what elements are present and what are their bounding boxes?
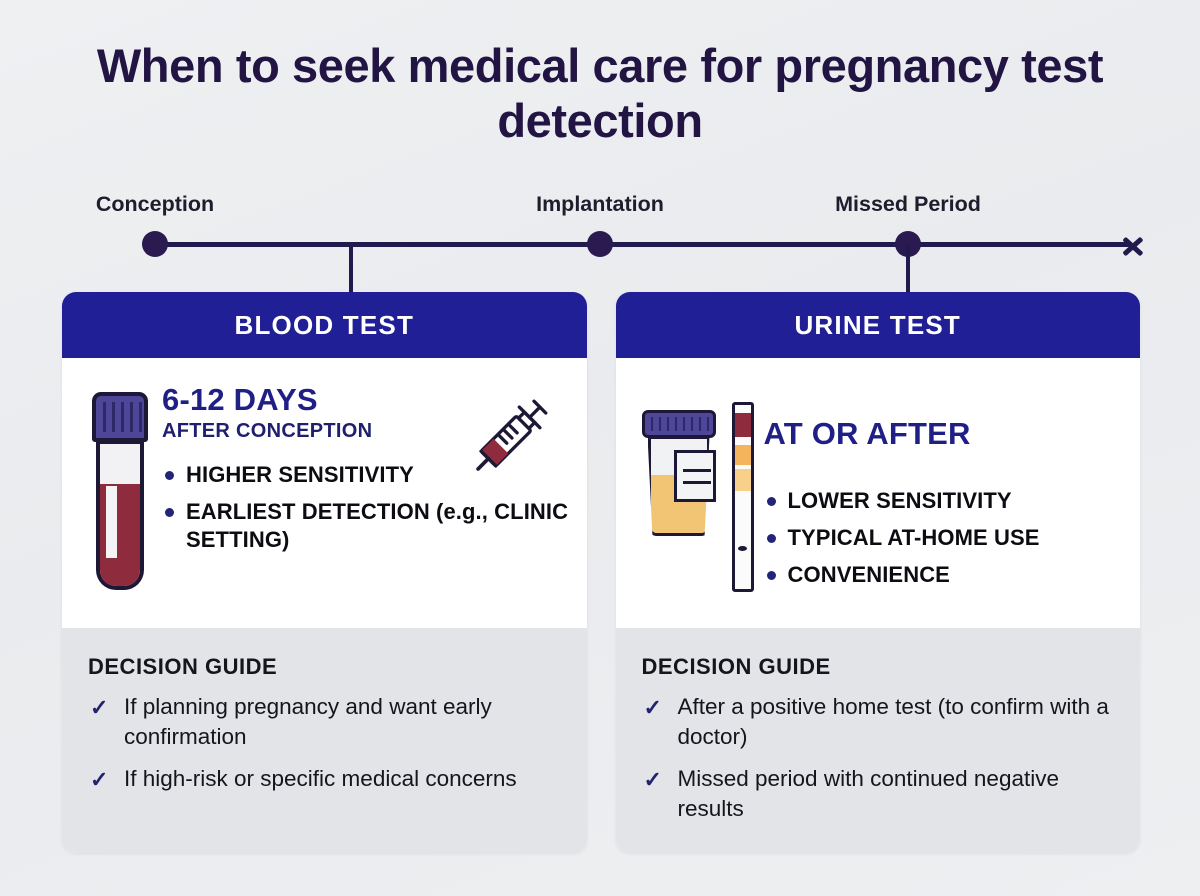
blood-test-icon-column xyxy=(88,384,152,592)
list-item-label: After a positive home test (to confirm w… xyxy=(678,694,1109,749)
timeline-dot-conception xyxy=(142,231,168,257)
list-item-label: Missed period with continued negative re… xyxy=(678,766,1059,821)
decision-guide-title: DECISION GUIDE xyxy=(642,654,1115,680)
card-body-urine-test: AT OR AFTER LOWER SENSITIVITY TYPICAL AT… xyxy=(616,358,1141,628)
decision-guide-urine: DECISION GUIDE ✓ After a positive home t… xyxy=(616,628,1141,853)
strip-band-maroon xyxy=(735,413,751,437)
timeline-dot-implantation xyxy=(587,231,613,257)
card-urine-test[interactable]: URINE TEST xyxy=(616,292,1141,853)
timeline-connector-blood xyxy=(349,244,353,294)
card-header-blood-test: BLOOD TEST xyxy=(62,292,587,358)
timeline: Conception Implantation Missed Period xyxy=(0,186,1200,296)
list-item: CONVENIENCE xyxy=(764,561,1123,589)
strip-band-amber xyxy=(735,469,751,491)
card-header-urine-test: URINE TEST xyxy=(616,292,1141,358)
test-strip-icon xyxy=(732,402,754,592)
urine-cup-icon xyxy=(642,392,716,542)
list-item: TYPICAL AT-HOME USE xyxy=(764,524,1123,552)
card-body-blood-test: 6-12 DAYS AFTER CONCEPTION HIGHER SENSIT… xyxy=(62,358,587,628)
card-grid: BLOOD TEST xyxy=(62,292,1140,853)
arrow-right-icon xyxy=(1122,230,1150,258)
check-icon: ✓ xyxy=(644,765,662,794)
urine-test-info: AT OR AFTER LOWER SENSITIVITY TYPICAL AT… xyxy=(754,384,1123,598)
strip-band-orange xyxy=(735,445,751,465)
list-item: ✓ After a positive home test (to confirm… xyxy=(642,692,1115,752)
decision-guide-list: ✓ After a positive home test (to confirm… xyxy=(642,692,1115,825)
list-item: ✓ If high-risk or specific medical conce… xyxy=(88,764,561,794)
urine-test-icon-column xyxy=(642,384,754,592)
check-icon: ✓ xyxy=(90,693,108,722)
list-item: EARLIEST DETECTION (e.g., CLINIC SETTING… xyxy=(162,498,569,554)
list-item: LOWER SENSITIVITY xyxy=(764,487,1123,515)
blood-tube-icon xyxy=(88,392,152,592)
timeline-connector-urine xyxy=(906,244,910,294)
urine-test-feature-list: LOWER SENSITIVITY TYPICAL AT-HOME USE CO… xyxy=(764,487,1123,589)
list-item-label: If high-risk or specific medical concern… xyxy=(124,766,517,791)
blood-test-feature-list: HIGHER SENSITIVITY EARLIEST DETECTION (e… xyxy=(162,461,569,554)
check-icon: ✓ xyxy=(90,765,108,794)
timeline-label-conception: Conception xyxy=(96,192,214,217)
blood-tube-body xyxy=(96,440,144,590)
check-icon: ✓ xyxy=(644,693,662,722)
list-item-label: If planning pregnancy and want early con… xyxy=(124,694,492,749)
page-title: When to seek medical care for pregnancy … xyxy=(60,38,1140,149)
decision-guide-blood: DECISION GUIDE ✓ If planning pregnancy a… xyxy=(62,628,587,853)
urine-cup-lid xyxy=(642,410,716,438)
blood-tube-cap xyxy=(92,392,148,442)
timeline-axis xyxy=(150,242,1130,247)
list-item: ✓ Missed period with continued negative … xyxy=(642,764,1115,824)
urine-cup-label xyxy=(674,450,716,502)
strip-marker xyxy=(738,546,747,551)
list-item: HIGHER SENSITIVITY xyxy=(162,461,569,489)
blood-test-info: 6-12 DAYS AFTER CONCEPTION HIGHER SENSIT… xyxy=(152,384,569,563)
decision-guide-title: DECISION GUIDE xyxy=(88,654,561,680)
timeline-label-missed-period: Missed Period xyxy=(835,192,981,217)
urine-test-headline: AT OR AFTER xyxy=(764,418,1123,451)
timeline-label-implantation: Implantation xyxy=(536,192,664,217)
list-item: ✓ If planning pregnancy and want early c… xyxy=(88,692,561,752)
decision-guide-list: ✓ If planning pregnancy and want early c… xyxy=(88,692,561,794)
blood-tube-highlight xyxy=(106,486,117,558)
card-blood-test[interactable]: BLOOD TEST xyxy=(62,292,587,853)
